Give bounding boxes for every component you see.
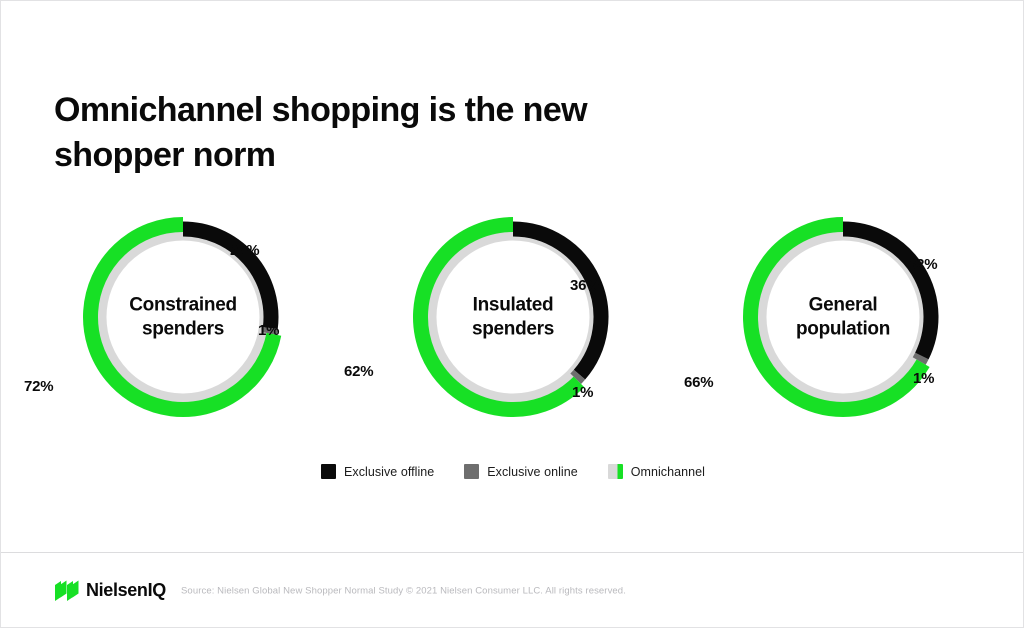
donut-segment-online[interactable]: Exclusive online: 1%: [919, 356, 922, 361]
donut-arc-group-2: Exclusive offline: 32%Exclusive online: …: [751, 225, 932, 410]
legend-label-online: Exclusive online: [487, 465, 577, 479]
legend-swatch-icon-online: [464, 464, 479, 479]
donut-chart-insulated-spenders: Exclusive offline: 36%Exclusive online: …: [348, 197, 678, 447]
donut-chart-row: Exclusive offline: 27%Exclusive online: …: [1, 197, 1024, 447]
legend-swatch-icon-offline: [321, 464, 336, 479]
donut-chart-constrained-spenders: Exclusive offline: 27%Exclusive online: …: [18, 197, 348, 447]
donut-chart-general-population: Exclusive offline: 32%Exclusive online: …: [678, 197, 1008, 447]
page-title: Omnichannel shopping is the new shopper …: [54, 88, 774, 178]
value-label-offline: 36%: [570, 277, 599, 294]
value-label-offline: 32%: [908, 256, 937, 273]
value-label-omnichannel: 62%: [344, 363, 373, 380]
chart-legend: Exclusive offline Exclusive online Omnic…: [1, 464, 1024, 479]
donut-segment-online[interactable]: Exclusive online: 1%: [576, 375, 580, 379]
source-citation: Source: Nielsen Global New Shopper Norma…: [181, 585, 626, 596]
slide-canvas: Omnichannel shopping is the new shopper …: [0, 0, 1024, 628]
nielseniq-logo: NielsenIQ: [54, 580, 166, 602]
legend-item-omnichannel[interactable]: Omnichannel: [608, 464, 705, 479]
legend-label-offline: Exclusive offline: [344, 465, 434, 479]
value-label-omnichannel: 72%: [24, 378, 53, 395]
legend-item-exclusive-offline[interactable]: Exclusive offline: [321, 464, 434, 479]
legend-item-exclusive-online[interactable]: Exclusive online: [464, 464, 577, 479]
value-label-offline: 27%: [230, 242, 259, 259]
donut-arc-group-1: Exclusive offline: 36%Exclusive online: …: [421, 225, 602, 410]
legend-swatch-icon-omnichannel: [608, 464, 623, 479]
value-label-online: 1%: [258, 322, 279, 339]
nielseniq-bolt-icon: [54, 580, 81, 602]
nielseniq-logo-text: NielsenIQ: [86, 580, 166, 601]
donut-graphic: Exclusive offline: 32%Exclusive online: …: [737, 211, 949, 423]
donut-svg-2: Exclusive offline: 32%Exclusive online: …: [737, 211, 949, 423]
legend-label-omnichannel: Omnichannel: [631, 465, 705, 479]
value-label-omnichannel: 66%: [684, 374, 713, 391]
value-label-online: 1%: [913, 370, 934, 387]
value-label-online: 1%: [572, 384, 593, 401]
slide-footer: NielsenIQ Source: Nielsen Global New Sho…: [1, 553, 1024, 628]
